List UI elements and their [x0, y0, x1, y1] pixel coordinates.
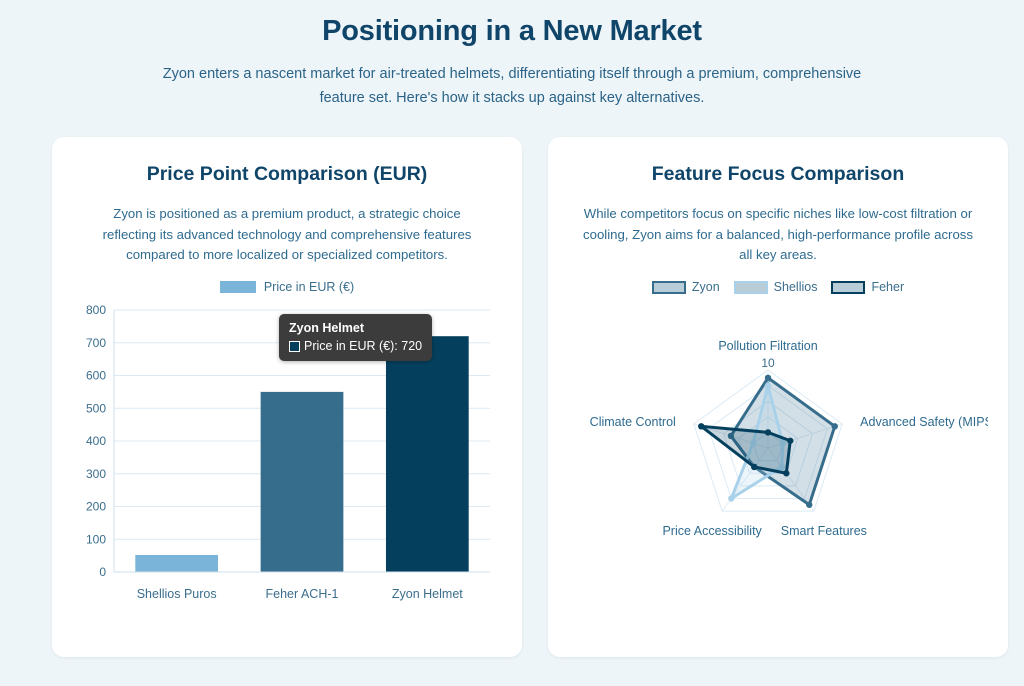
- legend-item-shellios[interactable]: Shellios: [734, 280, 818, 294]
- price-comparison-card: Price Point Comparison (EUR) Zyon is pos…: [52, 137, 522, 657]
- y-axis-tick-label: 100: [86, 532, 106, 546]
- bar-chart-tooltip: Zyon Helmet Price in EUR (€): 720: [279, 314, 432, 361]
- radar-point[interactable]: [765, 383, 771, 389]
- x-axis-tick-label: Zyon Helmet: [392, 587, 463, 601]
- legend-label-feher: Feher: [871, 280, 904, 294]
- y-axis-tick-label: 200: [86, 500, 106, 514]
- tooltip-title: Zyon Helmet: [289, 321, 422, 335]
- y-axis-tick-label: 400: [86, 434, 106, 448]
- bar-chart-area[interactable]: 0100200300400500600700800Shellios PurosF…: [72, 300, 502, 618]
- bar-3[interactable]: [386, 336, 469, 572]
- radar-axis-label: Climate Control: [590, 415, 676, 429]
- feature-card-description: While competitors focus on specific nich…: [582, 204, 974, 267]
- y-axis-tick-label: 600: [86, 369, 106, 383]
- radar-axis-label: Advanced Safety (MIPS): [860, 415, 988, 429]
- legend-item-feher[interactable]: Feher: [831, 280, 904, 294]
- radar-chart-svg[interactable]: 810Pollution FiltrationAdvanced Safety (…: [568, 298, 988, 598]
- radar-point[interactable]: [832, 423, 838, 429]
- feature-focus-card: Feature Focus Comparison While competito…: [548, 137, 1008, 657]
- cards-container: Price Point Comparison (EUR) Zyon is pos…: [0, 111, 1024, 657]
- x-axis-tick-label: Feher ACH-1: [266, 587, 339, 601]
- legend-label-price: Price in EUR (€): [264, 280, 354, 294]
- x-axis-tick-label: Shellios Puros: [137, 587, 217, 601]
- tooltip-value: Price in EUR (€): 720: [304, 339, 422, 353]
- radar-point[interactable]: [765, 429, 771, 435]
- y-axis-tick-label: 700: [86, 336, 106, 350]
- legend-swatch-zyon: [652, 281, 686, 294]
- radar-point[interactable]: [787, 438, 793, 444]
- tooltip-row: Price in EUR (€): 720: [289, 339, 422, 353]
- bar-1[interactable]: [135, 555, 218, 572]
- radar-axis-label: Smart Features: [781, 524, 867, 538]
- legend-swatch-feher: [831, 281, 865, 294]
- radar-point[interactable]: [728, 496, 734, 502]
- legend-swatch-price: [220, 281, 256, 293]
- legend-label-zyon: Zyon: [692, 280, 720, 294]
- bar-2[interactable]: [261, 392, 344, 572]
- radar-point[interactable]: [698, 423, 704, 429]
- radar-point[interactable]: [783, 470, 789, 476]
- legend-item-zyon[interactable]: Zyon: [652, 280, 720, 294]
- radar-chart-legend[interactable]: Zyon Shellios Feher: [568, 280, 988, 294]
- tooltip-swatch-icon: [289, 341, 300, 352]
- radar-chart-area[interactable]: 810Pollution FiltrationAdvanced Safety (…: [568, 298, 988, 628]
- radar-axis-label: Pollution Filtration: [718, 339, 817, 353]
- feature-card-title: Feature Focus Comparison: [568, 163, 988, 186]
- price-card-description: Zyon is positioned as a premium product,…: [86, 204, 488, 267]
- page-root: Positioning in a New Market Zyon enters …: [0, 0, 1024, 686]
- radar-tick-label-10: 10: [761, 356, 775, 370]
- page-subtitle: Zyon enters a nascent market for air-tre…: [162, 63, 862, 111]
- radar-point[interactable]: [806, 502, 812, 508]
- legend-label-shellios: Shellios: [774, 280, 818, 294]
- y-axis-tick-label: 500: [86, 401, 106, 415]
- page-header: Positioning in a New Market Zyon enters …: [0, 0, 1024, 111]
- legend-swatch-shellios: [734, 281, 768, 294]
- radar-point[interactable]: [765, 375, 771, 381]
- y-axis-tick-label: 800: [86, 303, 106, 317]
- y-axis-tick-label: 0: [99, 565, 106, 579]
- bar-chart-legend[interactable]: Price in EUR (€): [72, 280, 502, 294]
- y-axis-tick-label: 300: [86, 467, 106, 481]
- radar-point[interactable]: [751, 464, 757, 470]
- page-title: Positioning in a New Market: [0, 14, 1024, 49]
- price-card-title: Price Point Comparison (EUR): [72, 163, 502, 186]
- radar-axis-label: Price Accessibility: [662, 524, 762, 538]
